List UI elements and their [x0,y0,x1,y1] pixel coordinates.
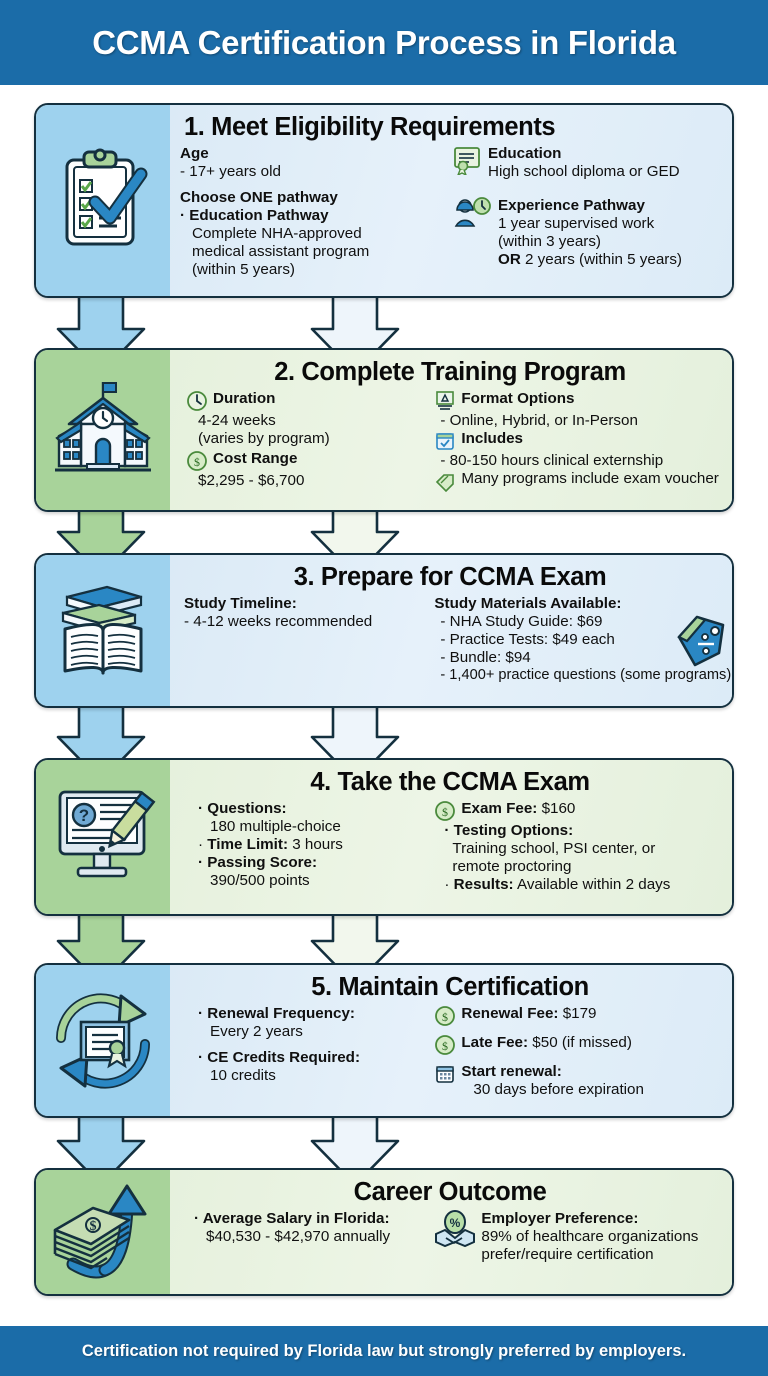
line: Cost Range [213,450,297,468]
career-icon-panel: $ [36,1170,170,1294]
step-3-title: 3. Prepare for CCMA Exam [180,563,720,592]
nurse-clock-icon [453,197,493,227]
infographic-page: CCMA Certification Process in Florida [0,0,768,1376]
line: - Online, Hybrid, or In-Person [434,412,720,430]
svg-text:$: $ [442,1039,448,1053]
line: Renewal Fee: $179 [461,1005,596,1023]
career-outcome-title: Career Outcome [180,1178,720,1207]
line: medical assistant program [180,243,447,261]
renewal-cycle-certificate-icon [49,988,157,1094]
line: · Testing Options: [434,822,720,840]
line: $40,530 - $42,970 annually [194,1228,428,1246]
line: Format Options [461,390,574,408]
line: Includes [461,430,523,448]
page-title: CCMA Certification Process in Florida [92,24,676,62]
calendar-icon [434,1063,456,1085]
line: - 17+ years old [180,163,447,181]
line: Every 2 years [198,1023,428,1041]
line: Start renewal: [461,1063,720,1081]
step-card-1[interactable]: 1. Meet Eligibility Requirements Age - 1… [34,103,734,298]
career-outcome-card[interactable]: $ Career Outcome · Average Salary in Flo… [34,1168,734,1296]
price-tag-icon [671,611,733,669]
line: 1 year supervised work [498,215,720,233]
svg-text:?: ? [79,806,89,825]
line: 30 days before expiration [461,1081,720,1099]
line: · CE Credits Required: [198,1049,428,1067]
step-1-body: 1. Meet Eligibility Requirements Age - 1… [170,105,732,296]
line: - 1,400+ practice questions (some progra… [434,667,731,684]
line: Age [180,145,447,163]
step-card-5[interactable]: 5. Maintain Certification · Renewal Freq… [34,963,734,1118]
computer-exam-pencil-icon: ? [48,786,158,888]
line: Education [488,145,720,163]
step-card-3[interactable]: 3. Prepare for CCMA Exam Study Timeline:… [34,553,734,708]
step-4-right-col: $ Exam Fee: $160 · Testing Options: Trai… [434,800,720,894]
clock-icon [186,390,208,412]
dollar-coin-icon: $ [186,450,208,472]
line: · Renewal Frequency: [198,1005,428,1023]
school-building-clock-icon [51,378,155,482]
line: Many programs include exam voucher [461,470,718,488]
line: 4-24 weeks [186,412,428,430]
svg-text:$: $ [442,805,448,819]
line: Employer Preference: [481,1210,720,1228]
line: (within 3 years) [498,233,720,251]
line: 10 credits [198,1067,428,1085]
svg-text:%: % [450,1216,461,1230]
step-5-right-col: $ Renewal Fee: $179 $ Late Fee: $50 (if … [434,1005,720,1099]
line: 89% of healthcare organizations [481,1228,720,1246]
step-1-right-col: Education High school diploma or GED [453,145,720,280]
step-1-icon-panel [36,105,170,296]
svg-text:$: $ [194,455,200,469]
line: 180 multiple-choice [198,818,428,836]
svg-text:$: $ [442,1010,448,1024]
step-5-left-col: · Renewal Frequency: Every 2 years · CE … [180,1005,428,1099]
line: · Education Pathway [180,207,447,225]
line: Late Fee: $50 (if missed) [461,1034,632,1052]
line: $2,295 - $6,700 [186,472,428,490]
step-4-left-col: · Questions: 180 multiple-choice · Time … [180,800,428,894]
clipboard-checklist-icon [55,146,151,256]
line: - 4-12 weeks recommended [184,613,428,631]
dollar-coin-icon: $ [434,1034,456,1056]
monitor-format-icon [434,390,456,412]
step-3-icon-panel [36,555,170,706]
career-right-col: % Employer Preference: 89% of healthcare… [434,1210,720,1264]
line: · Average Salary in Florida: [194,1210,428,1228]
step-5-title: 5. Maintain Certification [180,973,720,1002]
line: Choose ONE pathway [180,189,447,207]
step-card-4[interactable]: ? 4. Take the C [34,758,734,916]
step-3-left-col: Study Timeline: - 4-12 weeks recommended [180,595,428,685]
career-outcome-body: Career Outcome · Average Salary in Flori… [170,1170,732,1294]
step-2-right-col: Format Options - Online, Hybrid, or In-P… [434,390,720,492]
step-2-left-col: Duration 4-24 weeks (varies by program) … [180,390,428,492]
step-2-icon-panel [36,350,170,510]
line: High school diploma or GED [488,163,720,181]
step-3-right-col: Study Materials Available: - NHA Study G… [434,595,731,685]
dollar-coin-icon: $ [434,1005,456,1027]
line: · Results: Available within 2 days [434,876,720,894]
voucher-tag-icon [434,470,456,492]
line: Experience Pathway [498,197,720,215]
line: · Time Limit: 3 hours [198,836,428,854]
line: · Questions: [198,800,428,818]
header-banner: CCMA Certification Process in Florida [0,0,768,85]
footer-banner: Certification not required by Florida la… [0,1326,768,1376]
step-1-title: 1. Meet Eligibility Requirements [180,113,720,142]
step-2-title: 2. Complete Training Program [180,358,720,387]
money-growth-arrow-icon: $ [47,1184,159,1280]
step-4-body: 4. Take the CCMA Exam · Questions: 180 m… [170,760,732,914]
books-open-book-icon [49,579,157,683]
step-card-2[interactable]: 2. Complete Training Program Duration 4-… [34,348,734,512]
line: OR 2 years (within 5 years) [498,251,720,269]
line: (within 5 years) [180,261,447,279]
line: prefer/require certification [481,1246,720,1264]
step-3-body: 3. Prepare for CCMA Exam Study Timeline:… [170,555,732,706]
step-5-icon-panel [36,965,170,1116]
line: remote proctoring [434,858,720,876]
line: - 80-150 hours clinical externship [434,452,720,470]
svg-text:$: $ [90,1219,97,1234]
handshake-percent-icon: % [434,1210,476,1252]
step-4-title: 4. Take the CCMA Exam [180,768,720,797]
line: · Passing Score: [198,854,428,872]
line: (varies by program) [186,430,428,448]
line: Training school, PSI center, or [434,840,720,858]
calendar-check-icon [434,430,456,452]
line: Study Timeline: [184,595,428,613]
line: 390/500 points [198,872,428,890]
diploma-certificate-icon [453,145,483,175]
dollar-coin-icon: $ [434,800,456,822]
line: Exam Fee: $160 [461,800,575,818]
line: Duration [213,390,275,408]
career-left-col: · Average Salary in Florida: $40,530 - $… [180,1210,428,1264]
step-2-body: 2. Complete Training Program Duration 4-… [170,350,732,510]
footer-note: Certification not required by Florida la… [82,1342,686,1361]
step-1-left-col: Age - 17+ years old Choose ONE pathway ·… [180,145,447,280]
step-4-icon-panel: ? [36,760,170,914]
line: Complete NHA-approved [180,225,447,243]
step-5-body: 5. Maintain Certification · Renewal Freq… [170,965,732,1116]
